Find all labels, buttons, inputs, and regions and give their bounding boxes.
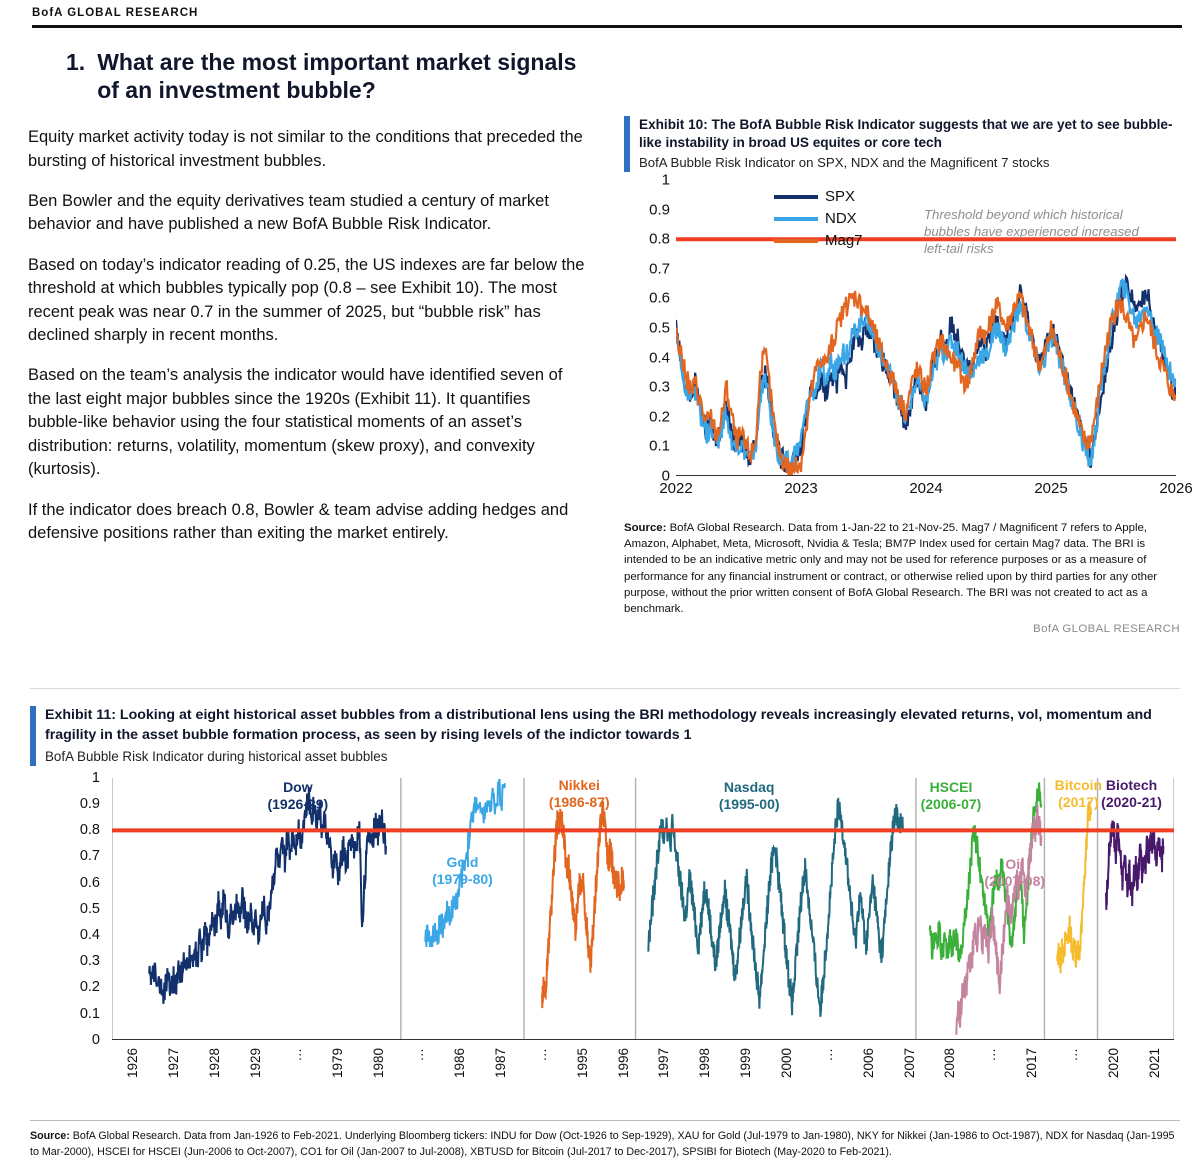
exhibit-10-y-tick: 0.1 — [634, 438, 670, 455]
source-label: Source: — [30, 1130, 70, 1142]
section-title: What are the most important market signa… — [97, 48, 588, 104]
series-line-dow — [149, 787, 386, 1004]
exhibit-11-y-tick: 0.8 — [66, 822, 100, 838]
exhibit-10: Exhibit 10: The BofA Bubble Risk Indicat… — [624, 116, 1180, 635]
exhibit-11-y-tick: 0.7 — [66, 848, 100, 864]
exhibit-11-x-tick: … — [1065, 1048, 1080, 1062]
exhibit-10-legend: SPXNDXMag7 — [774, 186, 863, 252]
legend-swatch-icon — [774, 239, 818, 242]
series-label-name: Dow — [250, 779, 346, 796]
exhibit-11-subtitle: BofA Bubble Risk Indicator during histor… — [45, 748, 1180, 766]
legend-label: NDX — [825, 210, 857, 227]
section-divider — [30, 688, 1180, 689]
exhibit-11-source: Source: BofA Global Research. Data from … — [30, 1128, 1180, 1160]
exhibit-11-y-tick: 0.9 — [66, 796, 100, 812]
series-label-hscei: HSCEI(2006-07) — [903, 779, 999, 813]
exhibit-11-x-tick: 2008 — [942, 1048, 957, 1078]
exhibit-10-x-tick: 2022 — [659, 480, 692, 497]
exhibit-10-y-tick: 0.7 — [634, 260, 670, 277]
legend-label: Mag7 — [825, 232, 863, 249]
article-body: Equity market activity today is not simi… — [28, 126, 588, 545]
exhibit-11-x-tick: 1997 — [656, 1048, 671, 1078]
exhibit-10-x-tick: 2026 — [1159, 480, 1192, 497]
exhibit-11-x-tick: 1996 — [616, 1048, 631, 1078]
exhibit-11-x-tick: 1929 — [248, 1048, 263, 1078]
article-column: 1. What are the most important market si… — [28, 48, 588, 545]
source-text: BofA Global Research. Data from 1-Jan-22… — [624, 522, 1157, 615]
exhibit-11-y-tick: 0.5 — [66, 901, 100, 917]
series-label-name: Nasdaq — [701, 779, 797, 796]
exhibit-11-header: Exhibit 11: Looking at eight historical … — [30, 706, 1180, 766]
series-line-mag7 — [676, 291, 1176, 476]
exhibit-11-x-tick: 1999 — [738, 1048, 753, 1078]
exhibit-11-x-tick: 2006 — [861, 1048, 876, 1078]
exhibit-10-y-tick: 0.8 — [634, 231, 670, 248]
exhibit-11-x-tick: … — [289, 1048, 304, 1062]
legend-item[interactable]: SPX — [774, 186, 863, 208]
threshold-annotation: Threshold beyond which historical bubble… — [924, 206, 1164, 257]
source-label: Source: — [624, 522, 666, 534]
section-number: 1. — [66, 48, 85, 104]
exhibit-11-title: Exhibit 11: Looking at eight historical … — [45, 706, 1180, 746]
article-paragraph: Based on the team’s analysis the indicat… — [28, 364, 588, 481]
exhibit-10-header: Exhibit 10: The BofA Bubble Risk Indicat… — [624, 116, 1180, 172]
exhibit-11-x-tick: 1995 — [575, 1048, 590, 1078]
exhibit-11-x-tick: 2017 — [1024, 1048, 1039, 1078]
series-label-nikkei: Nikkei(1986-87) — [531, 777, 627, 811]
exhibit-11-x-tick: … — [411, 1048, 426, 1062]
exhibit-10-y-tick: 0.6 — [634, 290, 670, 307]
series-label-name: Oil — [967, 856, 1063, 873]
exhibit-10-x-tick: 2024 — [909, 480, 942, 497]
source-text: BofA Global Research. Data from Jan-1926… — [30, 1130, 1175, 1158]
series-label-dow: Dow(1926-29) — [250, 779, 346, 813]
series-label-period: (2007-08) — [967, 873, 1063, 890]
exhibit-11-x-tick: 1998 — [697, 1048, 712, 1078]
exhibit-11-x-tick: 1979 — [330, 1048, 345, 1078]
exhibit-11-x-tick: 2021 — [1147, 1048, 1162, 1078]
series-label-name: HSCEI — [903, 779, 999, 796]
series-label-period: (1995-00) — [701, 796, 797, 813]
legend-label: SPX — [825, 188, 855, 205]
exhibit-11-x-tick: 1928 — [207, 1048, 222, 1078]
exhibit-10-y-tick: 0.5 — [634, 319, 670, 336]
accent-bar — [624, 116, 630, 172]
series-label-name: Gold — [414, 854, 510, 871]
series-label-nasdaq: Nasdaq(1995-00) — [701, 779, 797, 813]
exhibit-11-x-tick: 2000 — [779, 1048, 794, 1078]
legend-swatch-icon — [774, 217, 818, 220]
exhibit-11-y-tick: 0.3 — [66, 953, 100, 969]
exhibit-11-x-tick: … — [983, 1048, 998, 1062]
series-label-period: (1979-80) — [414, 871, 510, 888]
exhibit-11-y-tick: 1 — [66, 770, 100, 786]
exhibit-10-y-tick: 1 — [634, 171, 670, 188]
series-label-gold: Gold(1979-80) — [414, 854, 510, 888]
exhibit-10-y-tick: 0.4 — [634, 349, 670, 366]
exhibit-10-y-axis: 00.10.20.30.40.50.60.70.80.91 — [624, 180, 670, 510]
article-paragraph: Based on today’s indicator reading of 0.… — [28, 254, 588, 348]
article-paragraph: Ben Bowler and the equity derivatives te… — [28, 190, 588, 237]
exhibit-10-subtitle: BofA Bubble Risk Indicator on SPX, NDX a… — [639, 154, 1180, 172]
series-label-period: (1986-87) — [531, 794, 627, 811]
accent-bar — [30, 706, 36, 766]
footer-divider — [30, 1120, 1180, 1121]
exhibit-10-title: Exhibit 10: The BofA Bubble Risk Indicat… — [639, 116, 1180, 152]
exhibit-11: Exhibit 11: Looking at eight historical … — [30, 706, 1180, 1106]
exhibit-10-source: Source: BofA Global Research. Data from … — [624, 520, 1180, 617]
legend-item[interactable]: NDX — [774, 208, 863, 230]
exhibit-10-chart: 00.10.20.30.40.50.60.70.80.91 SPXNDXMag7… — [624, 180, 1180, 510]
series-label-period: (1926-29) — [250, 796, 346, 813]
series-line-biotech — [1106, 821, 1163, 910]
brand-label: BofA GLOBAL RESEARCH — [32, 7, 198, 19]
series-label-period: (2006-07) — [903, 796, 999, 813]
exhibit-11-series-svg — [112, 778, 1174, 1040]
exhibit-11-chart: 00.10.20.30.40.50.60.70.80.9119261927192… — [30, 776, 1180, 1106]
exhibit-10-footer-brand: BofA GLOBAL RESEARCH — [624, 623, 1180, 635]
exhibit-11-x-tick: … — [534, 1048, 549, 1062]
series-line-oil — [956, 805, 1041, 1035]
page-header: BofA GLOBAL RESEARCH — [0, 0, 1200, 26]
exhibit-10-y-tick: 0.2 — [634, 408, 670, 425]
exhibit-11-y-tick: 0 — [66, 1032, 100, 1048]
series-label-biotech: Biotech(2020-21) — [1084, 777, 1180, 811]
series-label-oil: Oil(2007-08) — [967, 856, 1063, 890]
exhibit-11-x-tick: 1926 — [125, 1048, 140, 1078]
exhibit-10-y-tick: 0.9 — [634, 201, 670, 218]
series-label-period: (2020-21) — [1084, 794, 1180, 811]
article-paragraph: Equity market activity today is not simi… — [28, 126, 588, 173]
legend-swatch-icon — [774, 195, 818, 198]
exhibit-11-y-tick: 0.4 — [66, 927, 100, 943]
page-title: 1. What are the most important market si… — [66, 48, 588, 104]
exhibit-11-y-tick: 0.1 — [66, 1006, 100, 1022]
exhibit-11-x-tick: … — [820, 1048, 835, 1062]
header-rule — [32, 25, 1182, 28]
series-label-name: Biotech — [1084, 777, 1180, 794]
exhibit-11-x-tick: 2007 — [902, 1048, 917, 1078]
exhibit-10-x-tick: 2023 — [784, 480, 817, 497]
legend-item[interactable]: Mag7 — [774, 230, 863, 252]
exhibit-11-x-tick: 2020 — [1106, 1048, 1121, 1078]
article-paragraph: If the indicator does breach 0.8, Bowler… — [28, 499, 588, 546]
exhibit-11-y-tick: 0.6 — [66, 875, 100, 891]
exhibit-10-x-tick: 2025 — [1034, 480, 1067, 497]
exhibit-11-x-tick: 1927 — [166, 1048, 181, 1078]
exhibit-11-x-tick: 1986 — [452, 1048, 467, 1078]
exhibit-11-x-tick: 1980 — [371, 1048, 386, 1078]
exhibit-11-x-tick: 1987 — [493, 1048, 508, 1078]
exhibit-10-y-tick: 0.3 — [634, 379, 670, 396]
exhibit-11-plot-area — [112, 778, 1174, 1040]
series-label-name: Nikkei — [531, 777, 627, 794]
exhibit-11-y-tick: 0.2 — [66, 979, 100, 995]
